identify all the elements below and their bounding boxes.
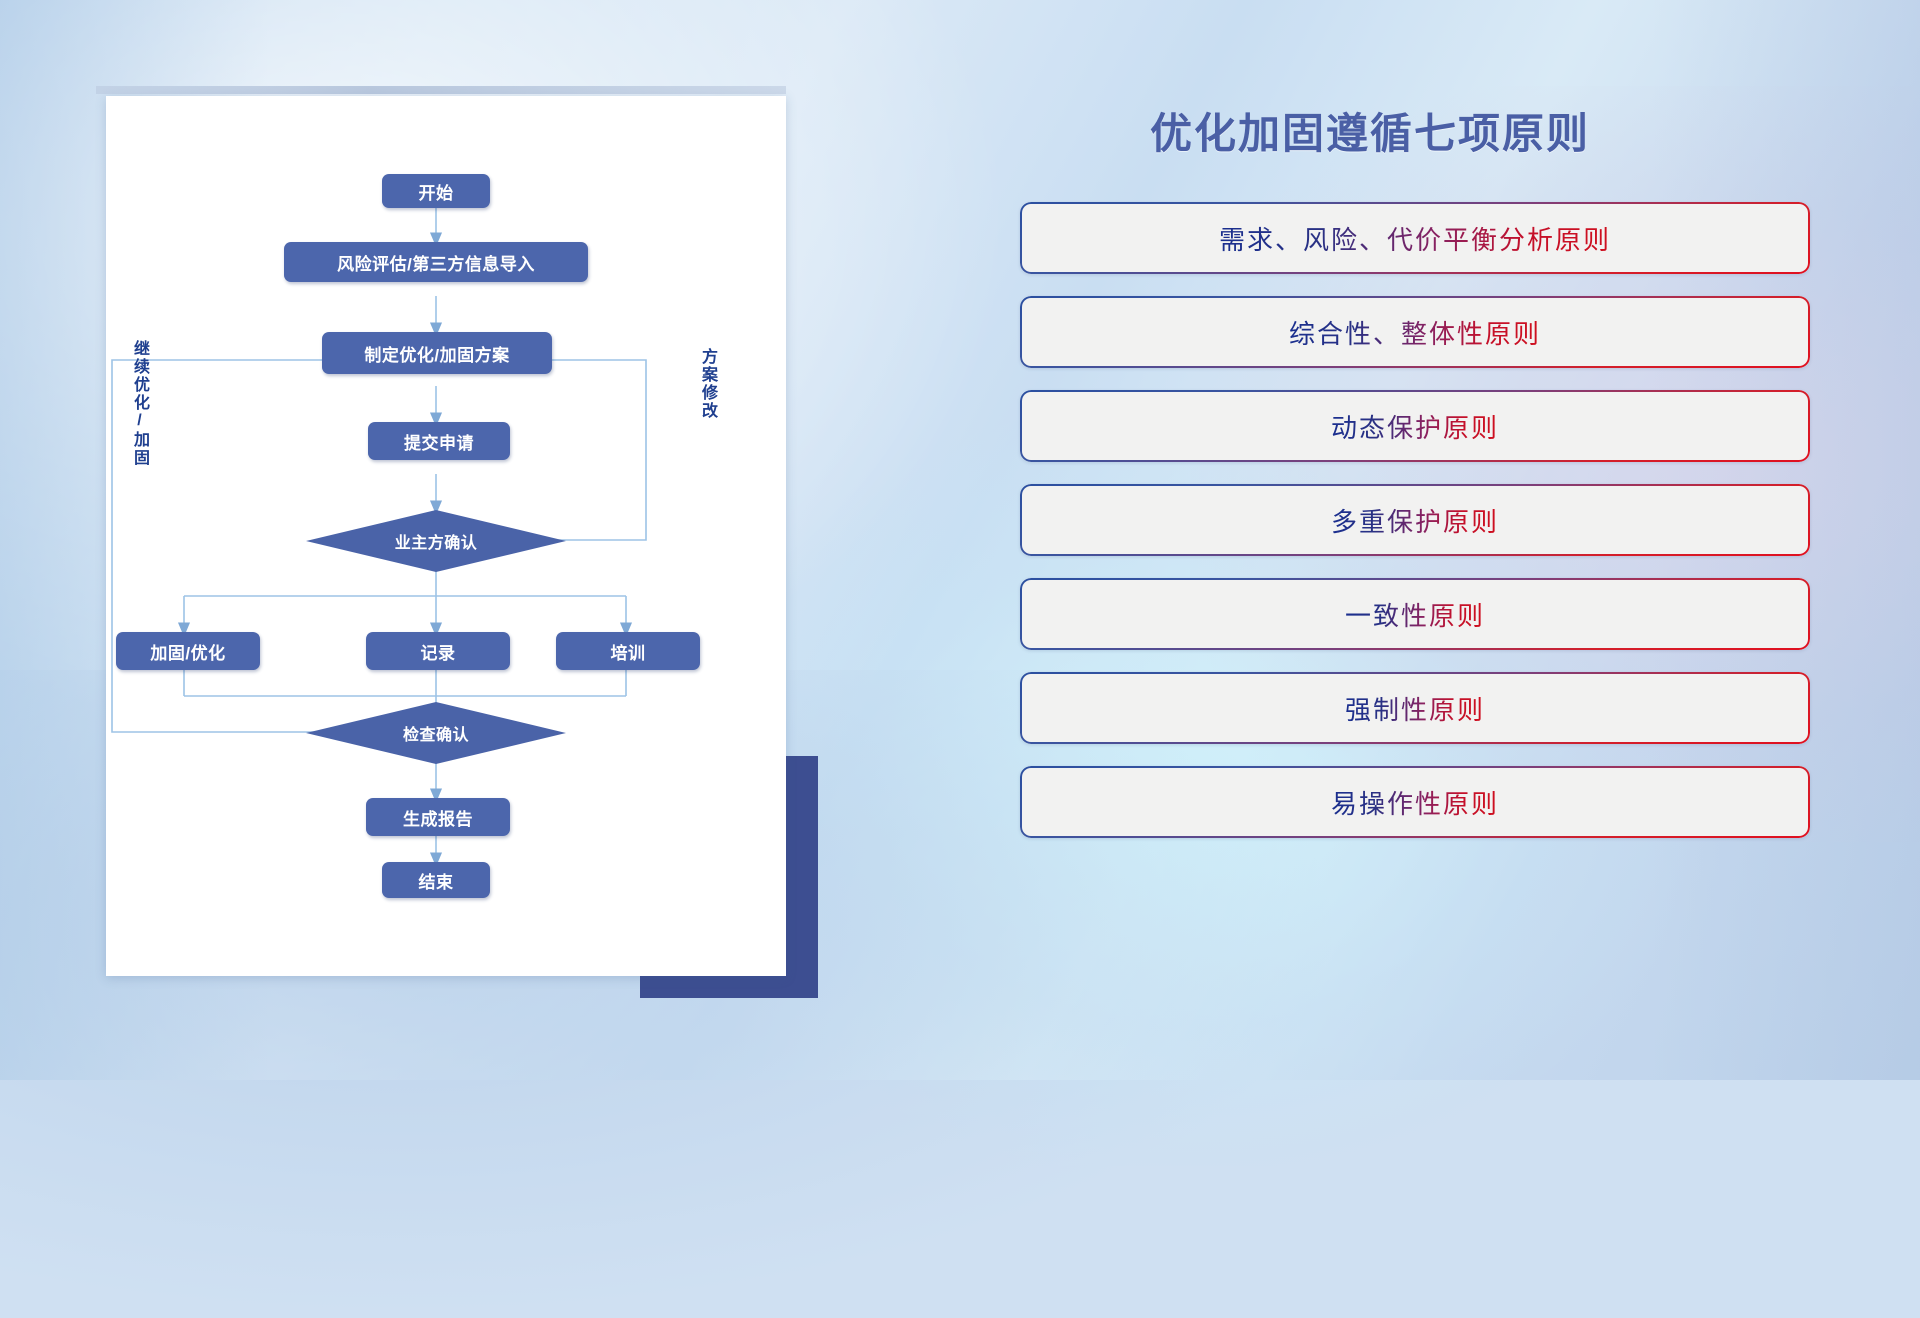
flow-node-record[interactable]: 记录	[366, 632, 510, 670]
flow-node-label: 制定优化/加固方案	[364, 341, 509, 366]
flow-node-label: 业主方确认	[395, 529, 478, 553]
principle-card-4[interactable]: 多重保护原则	[1020, 484, 1810, 556]
flowchart-sheet: 开始 风险评估/第三方信息导入 制定优化/加固方案 提交申请 业主方确认 加固/…	[106, 96, 786, 976]
principle-card-1[interactable]: 需求、风险、代价平衡分析原则	[1020, 202, 1810, 274]
principle-label: 需求、风险、代价平衡分析原则	[1219, 220, 1611, 257]
principle-card-2[interactable]: 综合性、整体性原则	[1020, 296, 1810, 368]
principle-label: 动态保护原则	[1331, 408, 1499, 445]
principles-title: 优化加固遵循七项原则	[1150, 100, 1590, 161]
flow-node-label: 记录	[421, 639, 456, 664]
principle-card-7[interactable]: 易操作性原则	[1020, 766, 1810, 838]
flow-node-label: 生成报告	[403, 805, 473, 830]
principles-card-list: 需求、风险、代价平衡分析原则 综合性、整体性原则 动态保护原则 多重保护原则 一…	[1020, 202, 1810, 838]
flow-node-label: 培训	[611, 639, 646, 664]
flow-node-label: 加固/优化	[150, 639, 225, 664]
flow-node-report[interactable]: 生成报告	[366, 798, 510, 836]
principle-card-6[interactable]: 强制性原则	[1020, 672, 1810, 744]
principle-label: 强制性原则	[1345, 690, 1485, 727]
principle-card-3[interactable]: 动态保护原则	[1020, 390, 1810, 462]
principles-panel: 优化加固遵循七项原则 需求、风险、代价平衡分析原则 综合性、整体性原则 动态保护…	[1020, 86, 1840, 1026]
flow-node-start[interactable]: 开始	[382, 174, 490, 208]
flow-node-submit[interactable]: 提交申请	[368, 422, 510, 460]
flow-node-label: 提交申请	[404, 429, 474, 454]
flow-node-label: 风险评估/第三方信息导入	[337, 250, 535, 275]
flow-node-owner-confirm[interactable]: 业主方确认	[306, 510, 566, 572]
principle-label: 易操作性原则	[1331, 784, 1499, 821]
flow-node-end[interactable]: 结束	[382, 862, 490, 898]
flow-node-plan[interactable]: 制定优化/加固方案	[322, 332, 552, 374]
principle-label: 多重保护原则	[1331, 502, 1499, 539]
flow-node-risk-assessment[interactable]: 风险评估/第三方信息导入	[284, 242, 588, 282]
flow-node-label: 结束	[419, 868, 454, 893]
flow-node-label: 检查确认	[403, 721, 469, 745]
flow-node-training[interactable]: 培训	[556, 632, 700, 670]
flow-node-check-confirm[interactable]: 检查确认	[306, 702, 566, 764]
flow-node-label: 开始	[419, 179, 454, 204]
principle-label: 一致性原则	[1345, 596, 1485, 633]
flow-side-label-right: 方案修改	[698, 348, 715, 468]
flow-node-reinforce[interactable]: 加固/优化	[116, 632, 260, 670]
principle-label: 综合性、整体性原则	[1289, 314, 1541, 351]
flowchart-canvas: 开始 风险评估/第三方信息导入 制定优化/加固方案 提交申请 业主方确认 加固/…	[106, 96, 786, 976]
principle-card-5[interactable]: 一致性原则	[1020, 578, 1810, 650]
flow-side-label-left: 继续优化/加固	[130, 340, 147, 520]
